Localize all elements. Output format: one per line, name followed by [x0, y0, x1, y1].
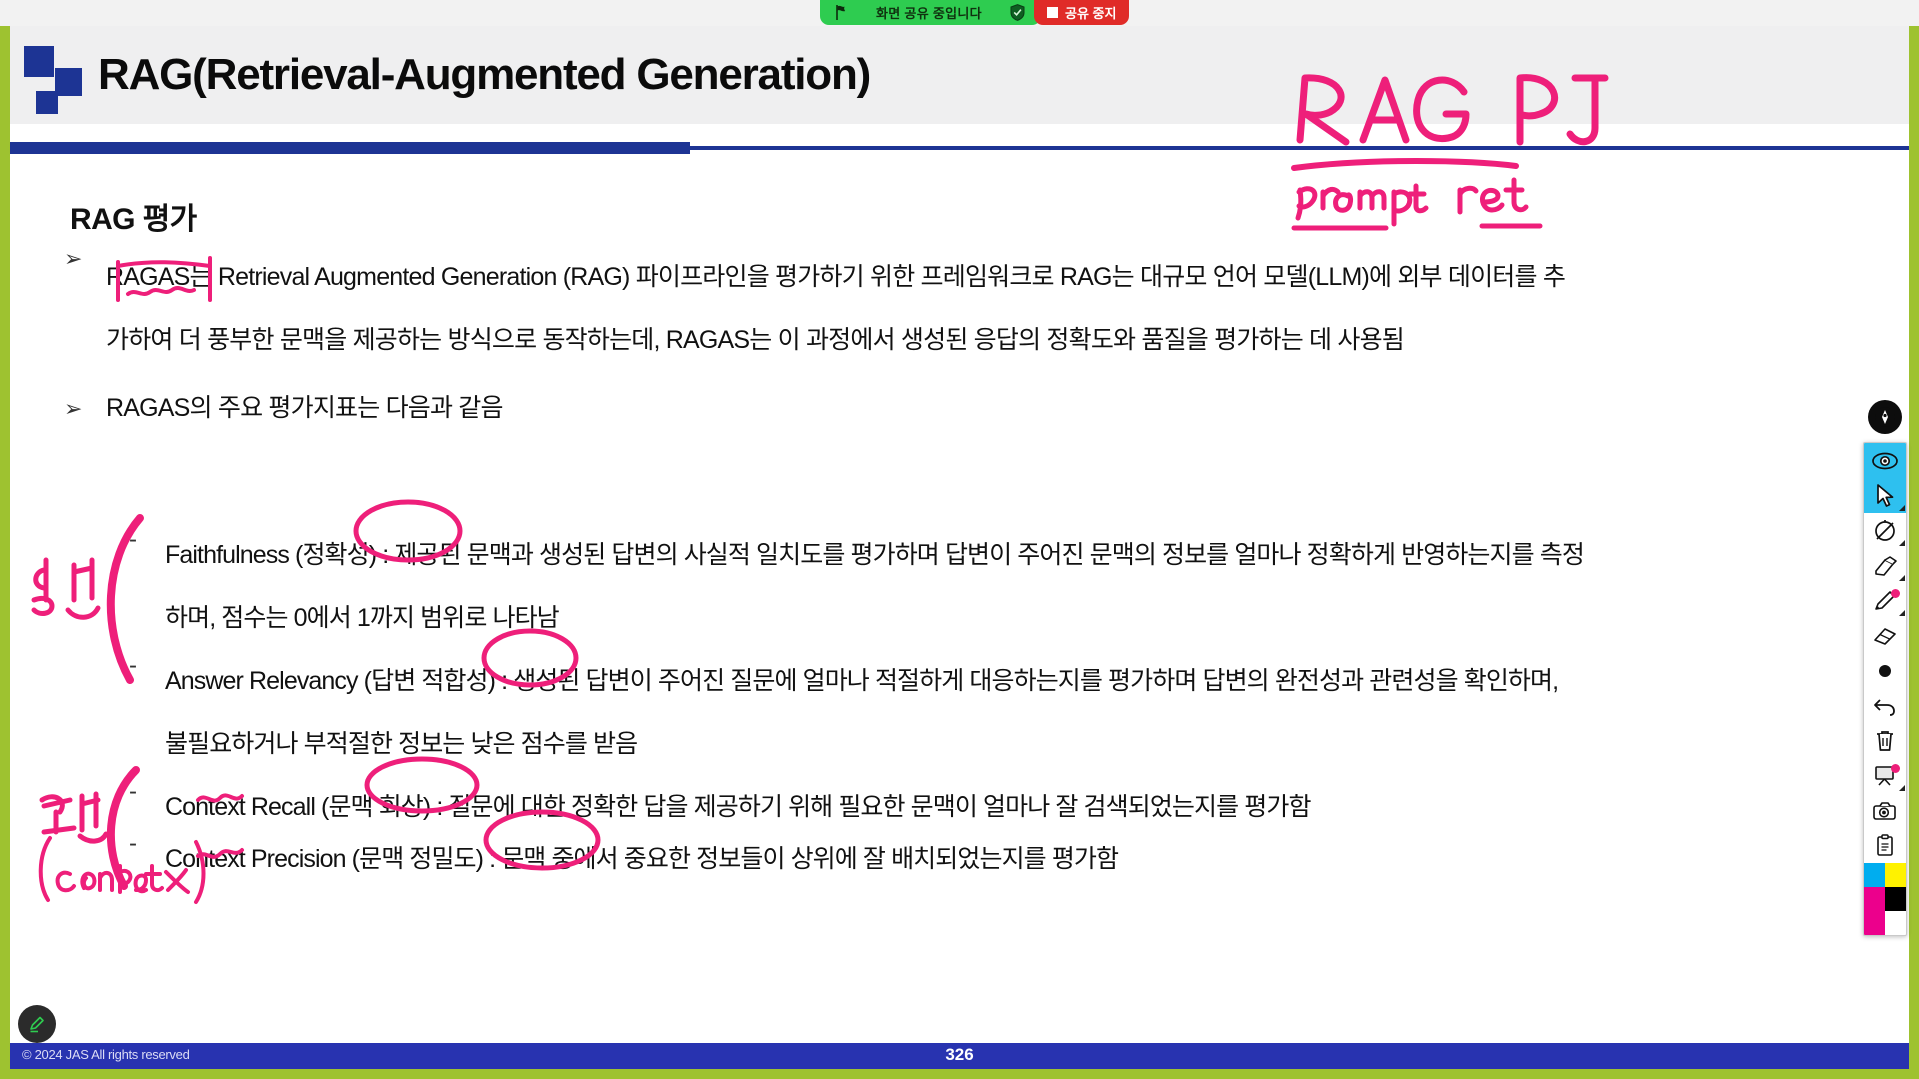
color-swatch-magenta[interactable] — [1863, 887, 1885, 911]
tool-more-corner-icon — [1899, 575, 1905, 581]
sub-bullet-item-1: - Answer Relevancy (답변 적합성) : 생성된 답변이 주어… — [165, 650, 1585, 776]
sub-bullet-marker: - — [129, 652, 136, 680]
page-number: 326 — [945, 1045, 973, 1065]
annotation-toolbar[interactable] — [1863, 400, 1907, 936]
page-title: RAG(Retrieval-Augmented Generation) — [98, 50, 870, 100]
tool-more-corner-icon — [1899, 785, 1905, 791]
section-heading: RAG 평가 — [70, 194, 197, 238]
sub-bullet-marker: - — [129, 526, 136, 554]
color-swatch-yellow[interactable] — [1885, 863, 1907, 887]
dot-thickness-icon[interactable] — [1863, 653, 1907, 688]
jas-logo-icon — [24, 46, 82, 108]
stop-sharing-label: 공유 중지 — [1065, 3, 1116, 22]
camera-icon[interactable] — [1863, 793, 1907, 828]
bullet-text: RAGAS는 Retrieval Augmented Generation (R… — [106, 246, 1586, 372]
trash-icon[interactable] — [1863, 723, 1907, 758]
clipboard-icon[interactable] — [1863, 828, 1907, 863]
screen-share-bar: 화면 공유 중입니다 공유 중지 — [0, 0, 1919, 26]
cursor-pointer-icon[interactable] — [1863, 478, 1907, 513]
stop-sharing-button[interactable]: 공유 중지 — [1034, 0, 1129, 25]
annotation-tool-list — [1863, 442, 1907, 936]
sub-bullet-marker: - — [129, 778, 136, 806]
slide-footer: © 2024 JAS All rights reserved 326 — [10, 1043, 1909, 1069]
screen-sharing-label: 화면 공유 중입니다 — [876, 3, 982, 22]
frame-edge-left — [0, 0, 10, 1079]
sub-bullet-item-0: - Faithfulness (정확성) : 제공된 문맥과 생성된 답변의 사… — [165, 524, 1585, 650]
sub-bullet-text: Context Precision (문맥 정밀도) : 문맥 중에서 중요한 … — [165, 828, 1585, 891]
bullet-marker: ➢ — [64, 398, 82, 420]
no-shape-icon[interactable] — [1863, 513, 1907, 548]
highlighter-icon[interactable] — [1863, 548, 1907, 583]
active-color-dot-icon — [1891, 764, 1900, 773]
pen-nib-logo-icon[interactable] — [1868, 400, 1902, 434]
whiteboard-icon[interactable] — [1863, 758, 1907, 793]
color-swatch-black[interactable] — [1885, 887, 1907, 911]
color-palette[interactable] — [1863, 863, 1907, 935]
active-color-dot-icon — [1891, 589, 1900, 598]
undo-icon[interactable] — [1863, 688, 1907, 723]
eraser-icon[interactable] — [1863, 618, 1907, 653]
copyright-text: © 2024 JAS All rights reserved — [22, 1047, 190, 1062]
bullet-marker: ➢ — [64, 248, 82, 270]
presentation-slide: RAG(Retrieval-Augmented Generation) RAG … — [10, 26, 1909, 1069]
tool-more-corner-icon — [1899, 610, 1905, 616]
tool-more-corner-icon — [1899, 540, 1905, 546]
sub-bullet-marker: - — [129, 830, 136, 858]
stop-square-icon — [1047, 7, 1058, 18]
bullet-item-1: ➢ RAGAS의 주요 평가지표는 다음과 같음 — [106, 396, 503, 421]
bullet-item-0: ➢ RAGAS는 Retrieval Augmented Generation … — [106, 246, 1586, 372]
flag-icon — [834, 5, 848, 20]
tool-more-corner-icon — [1899, 505, 1905, 511]
title-underline-thick — [10, 142, 690, 154]
screen-root: 화면 공유 중입니다 공유 중지 RAG(Retrieval-Augmented… — [0, 0, 1919, 1079]
pen-edit-icon[interactable] — [18, 1005, 56, 1043]
frame-edge-right — [1909, 0, 1919, 1079]
eye-visibility-icon[interactable] — [1863, 443, 1907, 478]
color-swatch-active-magenta[interactable] — [1863, 911, 1885, 935]
frame-edge-bottom — [0, 1069, 1919, 1079]
sub-bullet-text: Answer Relevancy (답변 적합성) : 생성된 답변이 주어진 … — [165, 650, 1585, 776]
bullet-text: RAGAS의 주요 평가지표는 다음과 같음 — [106, 394, 503, 422]
shield-icon — [1010, 4, 1025, 21]
pencil-icon[interactable] — [1863, 583, 1907, 618]
sub-bullet-text: Faithfulness (정확성) : 제공된 문맥과 생성된 답변의 사실적… — [165, 524, 1585, 650]
color-swatch-cyan[interactable] — [1863, 863, 1885, 887]
sub-bullet-item-3: - Context Precision (문맥 정밀도) : 문맥 중에서 중요… — [165, 828, 1585, 891]
screen-sharing-indicator[interactable]: 화면 공유 중입니다 — [820, 0, 1041, 25]
